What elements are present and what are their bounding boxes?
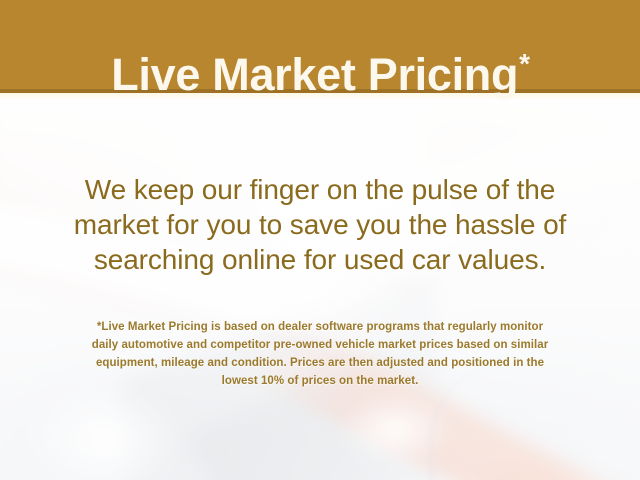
headline-block: We keep our finger on the pulse of the m…	[20, 172, 620, 277]
headline-line-1: We keep our finger on the pulse of the	[20, 172, 620, 207]
disclaimer-block: *Live Market Pricing is based on dealer …	[24, 318, 616, 390]
disclaimer-line-3: equipment, mileage and condition. Prices…	[24, 354, 616, 372]
disclaimer-line-4: lowest 10% of prices on the market.	[24, 372, 616, 390]
disclaimer-line-1: *Live Market Pricing is based on dealer …	[24, 318, 616, 336]
disclaimer-line-2: daily automotive and competitor pre-owne…	[24, 336, 616, 354]
headline-line-3: searching online for used car values.	[20, 242, 620, 277]
page-title-text: Live Market Pricing	[111, 52, 518, 97]
live-market-pricing-slide: Live Market Pricing* We keep our finger …	[0, 0, 640, 480]
headline-line-2: market for you to save you the hassle of	[20, 207, 620, 242]
content-area: We keep our finger on the pulse of the m…	[0, 93, 640, 480]
